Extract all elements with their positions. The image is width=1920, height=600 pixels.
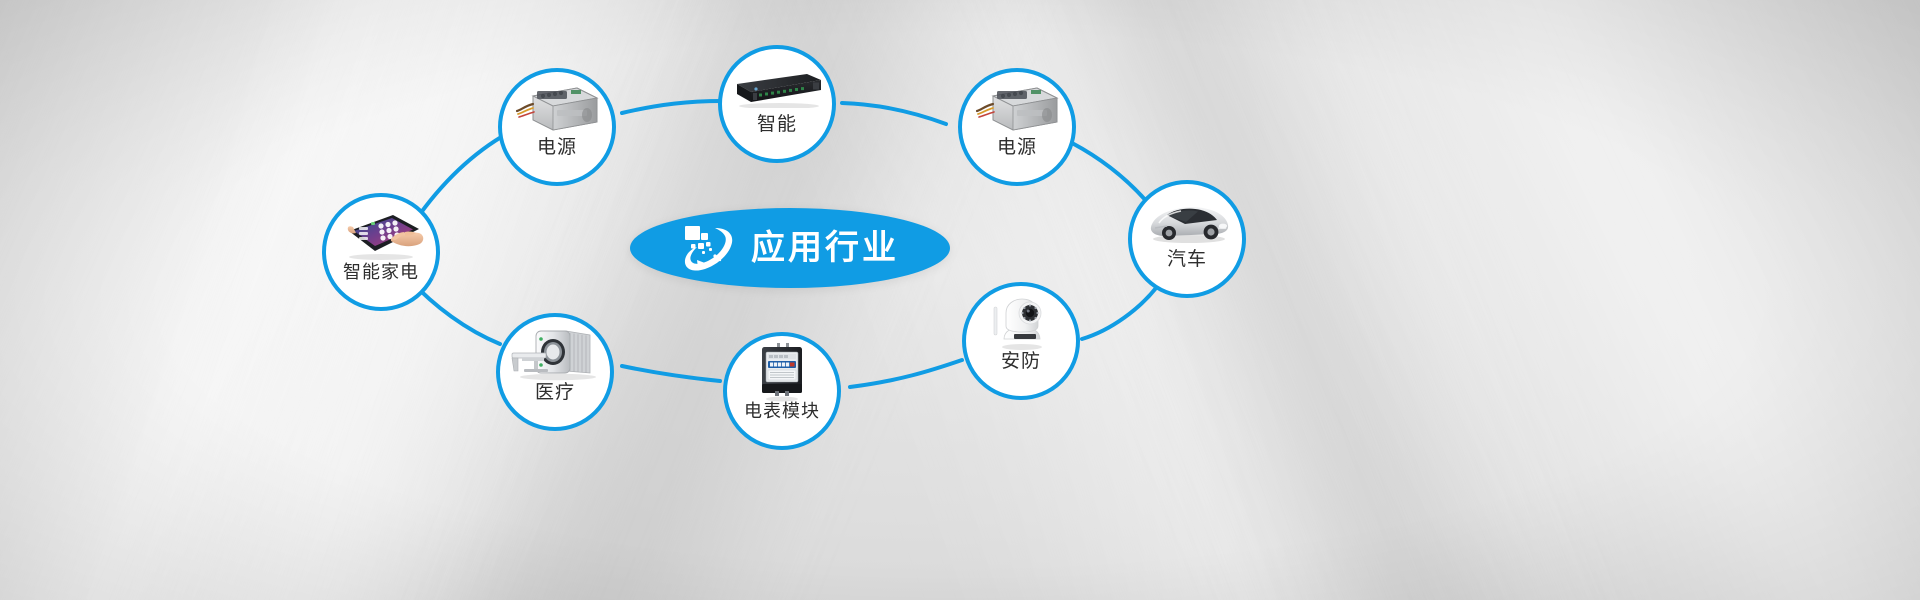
- center-badge[interactable]: 应用行业: [630, 208, 950, 288]
- connector-meter-medical: [622, 366, 720, 381]
- node-smart-home-appliance[interactable]: 智能家电: [322, 193, 440, 311]
- node-label: 智能家电: [343, 263, 419, 281]
- atx-power-supply-icon: [962, 72, 1072, 136]
- ct-scanner-icon: [500, 317, 610, 381]
- node-label: 电源: [997, 138, 1037, 157]
- badge-title: 应用行业: [751, 231, 899, 265]
- electricity-meter-icon: [727, 336, 837, 400]
- node-label: 安防: [1001, 352, 1041, 371]
- tablet-touch-icon: [326, 197, 436, 261]
- atx-power-supply-icon: [502, 72, 612, 136]
- node-label: 电表模块: [744, 402, 820, 420]
- node-medical[interactable]: 医疗: [496, 313, 614, 431]
- connector-powerleft-smart: [622, 101, 722, 113]
- connector-automotive-security: [1082, 288, 1156, 339]
- node-label: 智能: [757, 115, 797, 134]
- connector-powerright-automotive: [1072, 143, 1148, 203]
- rack-server-icon: [722, 49, 832, 113]
- ip-camera-icon: [966, 286, 1076, 350]
- connector-smarthome-powerleft: [415, 133, 508, 221]
- connector-security-meter: [850, 360, 962, 387]
- node-smart[interactable]: 智能: [718, 45, 836, 163]
- node-security[interactable]: 安防: [962, 282, 1080, 400]
- connector-lines: [0, 0, 1920, 600]
- node-label: 汽车: [1167, 250, 1207, 269]
- node-automotive[interactable]: 汽车: [1128, 180, 1246, 298]
- connector-smart-powerright: [842, 103, 946, 124]
- node-label: 医疗: [535, 383, 575, 402]
- orbit-swoosh-pixel-logo: [681, 222, 737, 274]
- node-power-supply-left[interactable]: 电源: [498, 68, 616, 186]
- sports-car-icon: [1132, 184, 1242, 248]
- node-power-supply-right[interactable]: 电源: [958, 68, 1076, 186]
- node-meter-module[interactable]: 电表模块: [723, 332, 841, 450]
- node-label: 电源: [537, 138, 577, 157]
- banner-canvas: 电源: [0, 0, 1920, 600]
